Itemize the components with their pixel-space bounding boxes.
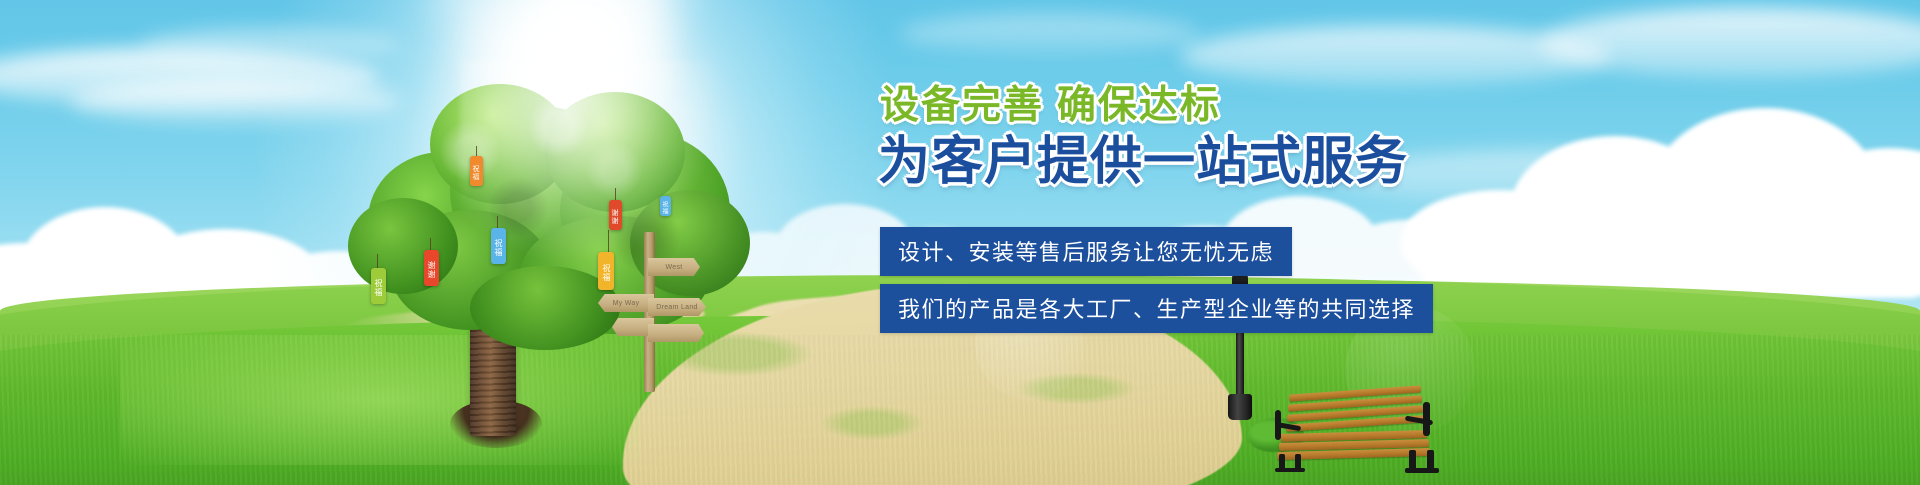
tree-tag: 祝福	[491, 228, 506, 264]
signpost-arm-dream-land: Dream Land	[648, 298, 706, 316]
tree-tag: 谢谢	[609, 200, 622, 230]
banner-copy: 设备完善 确保达标 为客户提供一站式服务 设计、安装等售后服务让您无忧无虑 我们…	[710, 84, 1470, 333]
subtitle-bar-2: 我们的产品是各大工厂、生产型企业等的共同选择	[880, 284, 1433, 333]
headline-primary: 设备完善 确保达标	[880, 84, 1470, 129]
lamppost-base	[1228, 394, 1252, 420]
hero-banner: 祝福 谢谢 祝福 祝福 谢谢 祝福 祝福 West My Way Dream L…	[0, 0, 1920, 485]
bench-foot	[1275, 468, 1305, 472]
bench-foot	[1405, 468, 1439, 473]
tree-tag: 祝福	[660, 196, 671, 216]
bench-leg	[1409, 450, 1416, 470]
bench-leg	[1427, 450, 1434, 470]
tree-tag: 祝福	[371, 268, 386, 304]
signpost-arm-my-way: My Way	[598, 294, 654, 312]
signpost-arm-west: West	[648, 258, 700, 276]
tree-tag: 祝福	[470, 156, 483, 186]
headline-secondary: 为客户提供一站式服务	[878, 133, 1470, 191]
signpost-arm-lower	[648, 324, 704, 342]
park-bench	[1275, 388, 1435, 474]
cloud-wisp	[900, 14, 1200, 54]
signpost: West My Way Dream Land	[596, 232, 706, 392]
subtitle-bar-1: 设计、安装等售后服务让您无忧无虑	[880, 227, 1292, 276]
tree-tag: 谢谢	[424, 250, 439, 286]
signpost-arm-blank	[612, 318, 654, 336]
tree-canopy-blob	[348, 198, 458, 294]
